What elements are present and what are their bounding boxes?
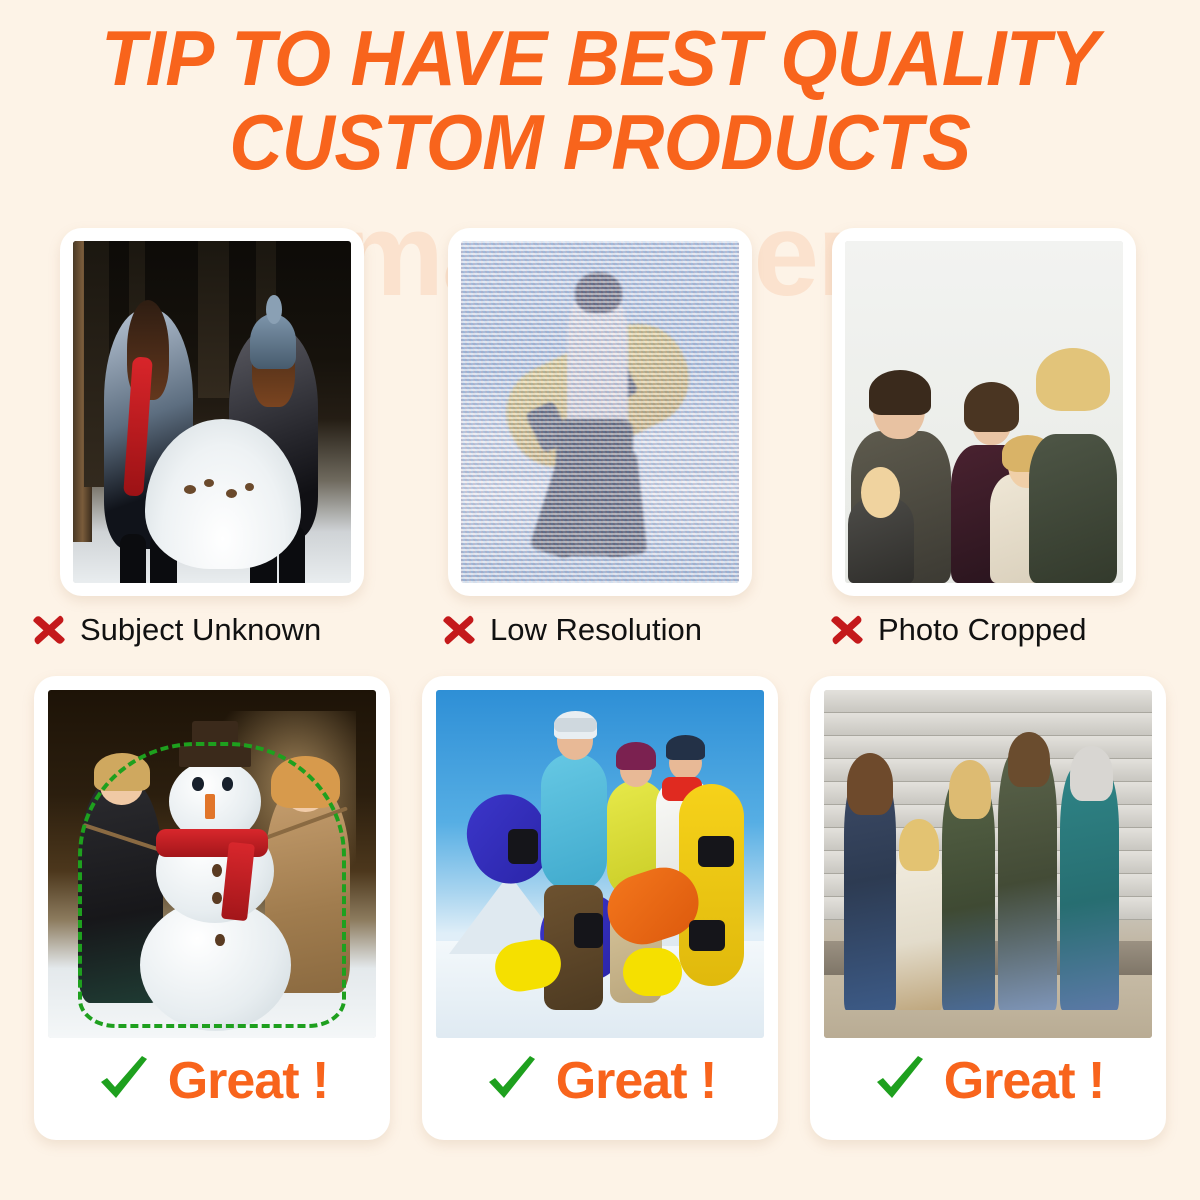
caption-label-great-snowboarders: Great ! bbox=[556, 1055, 717, 1107]
photo-great-snowman bbox=[48, 690, 376, 1038]
subject-outline bbox=[78, 742, 347, 1027]
page-title-line-1: TIP TO HAVE BEST QUALITY bbox=[101, 14, 1099, 102]
card-great-family[interactable]: Great ! bbox=[810, 676, 1166, 1140]
caption-great-family: Great ! bbox=[824, 1038, 1152, 1124]
card-great-snowboarders[interactable]: Great ! bbox=[422, 676, 778, 1140]
card-photo-cropped[interactable] bbox=[832, 228, 1136, 596]
caption-label-photo-cropped: Photo Cropped bbox=[878, 612, 1087, 648]
caption-great-snowboarders: Great ! bbox=[436, 1038, 764, 1124]
caption-subject-unknown: Subject Unknown bbox=[32, 612, 321, 648]
caption-label-great-family: Great ! bbox=[944, 1055, 1105, 1107]
x-mark-icon bbox=[442, 613, 476, 647]
check-mark-icon bbox=[484, 1053, 540, 1109]
caption-great-snowman: Great ! bbox=[48, 1038, 376, 1124]
check-mark-icon bbox=[872, 1053, 928, 1109]
card-low-resolution[interactable] bbox=[448, 228, 752, 596]
card-great-snowman[interactable]: Great ! bbox=[34, 676, 390, 1140]
photo-photo-cropped bbox=[845, 241, 1123, 583]
infographic-page: macorner TIP TO HAVE BEST QUALITY CUSTOM… bbox=[0, 0, 1200, 1200]
x-mark-icon bbox=[32, 613, 66, 647]
page-title: TIP TO HAVE BEST QUALITY CUSTOM PRODUCTS bbox=[36, 16, 1164, 184]
check-mark-icon bbox=[96, 1053, 152, 1109]
photo-great-snowboarders bbox=[436, 690, 764, 1038]
caption-label-low-resolution: Low Resolution bbox=[490, 612, 702, 648]
caption-label-subject-unknown: Subject Unknown bbox=[80, 612, 321, 648]
caption-low-resolution: Low Resolution bbox=[442, 612, 702, 648]
card-subject-unknown[interactable] bbox=[60, 228, 364, 596]
photo-great-family bbox=[824, 690, 1152, 1038]
x-mark-icon bbox=[830, 613, 864, 647]
photo-low-resolution bbox=[461, 241, 739, 583]
photo-subject-unknown bbox=[73, 241, 351, 583]
caption-photo-cropped: Photo Cropped bbox=[830, 612, 1087, 648]
caption-label-great-snowman: Great ! bbox=[168, 1055, 329, 1107]
page-title-line-2: CUSTOM PRODUCTS bbox=[36, 100, 1164, 184]
